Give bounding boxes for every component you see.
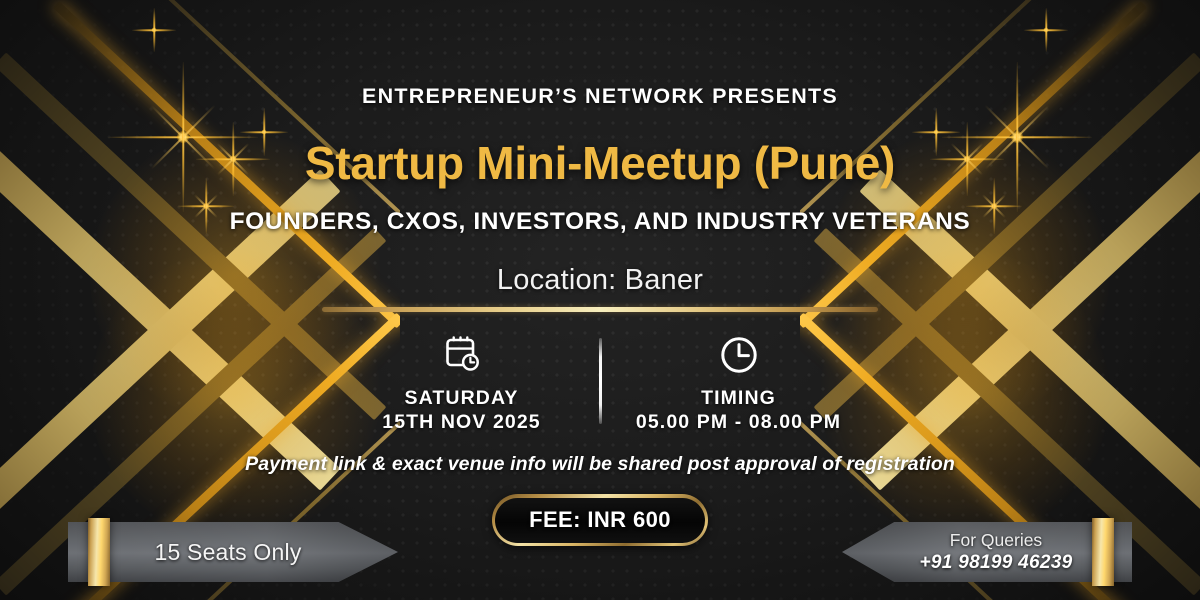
clock-icon [719, 334, 759, 376]
vertical-separator [599, 338, 602, 424]
time-lines: TIMING 05.00 PM - 08.00 PM [636, 386, 841, 436]
poster-content: ENTREPRENEUR’S NETWORK PRESENTS Startup … [0, 0, 1200, 600]
gold-divider [322, 307, 878, 312]
fee-badge: FEE: INR 600 [492, 494, 708, 545]
time-block: TIMING 05.00 PM - 08.00 PM [624, 334, 854, 436]
presenter-eyebrow: ENTREPRENEUR’S NETWORK PRESENTS [362, 84, 838, 109]
calendar-clock-icon [442, 334, 482, 376]
queries-text: For Queries +91 98199 46239 [842, 530, 1132, 575]
time-value: 05.00 PM - 08.00 PM [636, 410, 841, 435]
location-text: Location: Baner [497, 264, 703, 297]
fee-label: FEE: INR 600 [495, 498, 705, 543]
date-time-row: SATURDAY 15TH NOV 2025 TIMING 05.00 PM -… [347, 334, 854, 436]
queries-label: For Queries [898, 530, 1094, 551]
date-block: SATURDAY 15TH NOV 2025 [347, 334, 577, 436]
queries-ribbon: For Queries +91 98199 46239 [842, 522, 1132, 582]
event-poster: ENTREPRENEUR’S NETWORK PRESENTS Startup … [0, 0, 1200, 600]
time-label: TIMING [636, 386, 841, 411]
page-title: Startup Mini-Meetup (Pune) [305, 136, 895, 190]
date-lines: SATURDAY 15TH NOV 2025 [382, 386, 540, 436]
queries-phone[interactable]: +91 98199 46239 [898, 551, 1094, 574]
seats-label: 15 Seats Only [68, 539, 398, 566]
date-value: 15TH NOV 2025 [382, 410, 540, 435]
audience-subtitle: FOUNDERS, CXOS, INVESTORS, AND INDUSTRY … [230, 208, 971, 236]
date-day: SATURDAY [382, 386, 540, 411]
seats-ribbon: 15 Seats Only [68, 522, 398, 582]
payment-note: Payment link & exact venue info will be … [245, 453, 955, 476]
